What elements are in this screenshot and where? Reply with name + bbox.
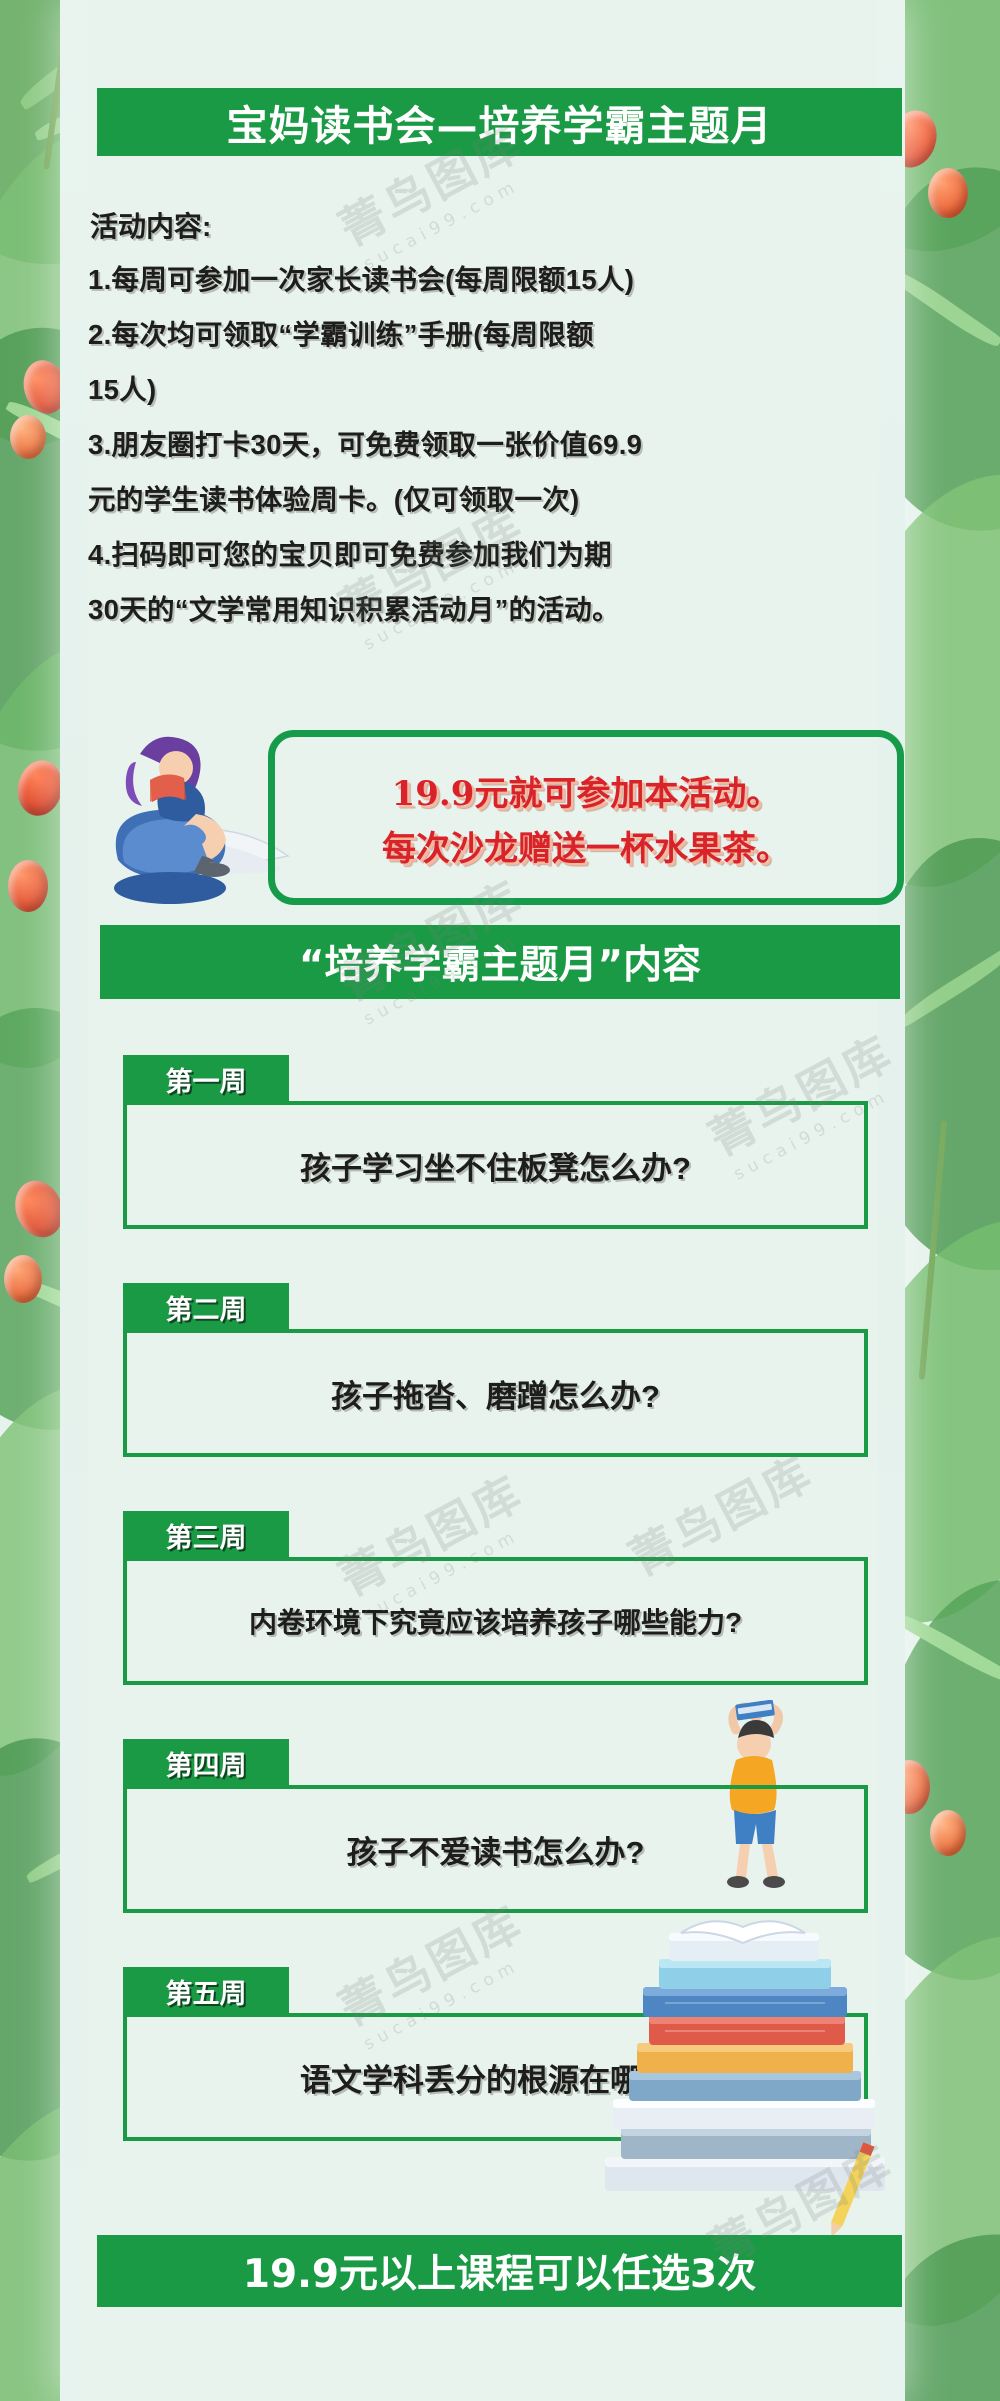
list-item: 15人) bbox=[88, 362, 918, 417]
week-tag-label: 第四周 bbox=[166, 1744, 247, 1783]
week-block: 第三周 内卷环境下究竟应该培养孩子哪些能力? bbox=[0, 1511, 1000, 1711]
list-item: 元的学生读书体验周卡。(仅可领取一次) bbox=[88, 472, 918, 527]
week-question-text: 内卷环境下究竟应该培养孩子哪些能力? bbox=[249, 1601, 742, 1641]
main-title-banner: 宝妈读书会—培养学霸主题月 bbox=[97, 88, 902, 156]
activity-heading: 活动内容: bbox=[90, 205, 211, 245]
list-item: 1.每周可参加一次家长读书会(每周限额15人) bbox=[88, 252, 918, 307]
week-tag-label: 第三周 bbox=[166, 1516, 247, 1555]
poster-root: 菁鸟图库 sucai99.com 菁鸟图库 sucai99.com 菁鸟图库 s… bbox=[0, 0, 1000, 2401]
list-item: 4.扫码即可您的宝贝即可免费参加我们为期 bbox=[88, 527, 918, 582]
girl-reading-illustration bbox=[88, 710, 298, 920]
week-question-box: 孩子学习坐不住板凳怎么办? bbox=[123, 1101, 868, 1229]
book-stack-illustration bbox=[585, 1895, 905, 2235]
poster-content: 宝妈读书会—培养学霸主题月 活动内容: 1.每周可参加一次家长读书会(每周限额1… bbox=[0, 0, 1000, 2401]
week-question-box: 孩子不爱读书怎么办? bbox=[123, 1785, 868, 1913]
week-tag: 第三周 bbox=[123, 1511, 289, 1559]
list-item: 3.朋友圈打卡30天，可免费领取一张价值69.9 bbox=[88, 417, 918, 472]
week-block: 第二周 孩子拖沓、磨蹭怎么办? bbox=[0, 1283, 1000, 1483]
week-tag-label: 第二周 bbox=[166, 1288, 247, 1327]
bottom-banner: 19.9元以上课程可以任选3次 bbox=[97, 2235, 902, 2307]
week-question-box: 孩子拖沓、磨蹭怎么办? bbox=[123, 1329, 868, 1457]
activity-list: 1.每周可参加一次家长读书会(每周限额15人) 2.每次均可领取“学霸训练”手册… bbox=[88, 252, 918, 637]
week-question-text: 孩子不爱读书怎么办? bbox=[347, 1827, 645, 1872]
list-item: 30天的“文学常用知识积累活动月”的活动。 bbox=[88, 582, 918, 637]
promo-box: 19.9元就可参加本活动。 每次沙龙赠送一杯水果茶。 bbox=[268, 730, 904, 905]
section-banner: “培养学霸主题月”内容 bbox=[100, 925, 900, 999]
section-title: “培养学霸主题月”内容 bbox=[299, 934, 701, 990]
week-block: 第一周 孩子学习坐不住板凳怎么办? bbox=[0, 1055, 1000, 1255]
page-title: 宝妈读书会—培养学霸主题月 bbox=[227, 92, 773, 152]
week-tag: 第四周 bbox=[123, 1739, 289, 1787]
week-tag-label: 第五周 bbox=[166, 1972, 247, 2011]
promo-line-1: 19.9元就可参加本活动。 bbox=[392, 766, 781, 815]
week-question-box: 内卷环境下究竟应该培养孩子哪些能力? bbox=[123, 1557, 868, 1685]
week-tag-label: 第一周 bbox=[166, 1060, 247, 1099]
week-tag: 第二周 bbox=[123, 1283, 289, 1331]
week-question-text: 孩子学习坐不住板凳怎么办? bbox=[300, 1143, 691, 1188]
bottom-banner-text: 19.9元以上课程可以任选3次 bbox=[243, 2243, 756, 2299]
week-tag: 第一周 bbox=[123, 1055, 289, 1103]
week-question-text: 孩子拖沓、磨蹭怎么办? bbox=[331, 1371, 660, 1416]
week-tag: 第五周 bbox=[123, 1967, 289, 2015]
list-item: 2.每次均可领取“学霸训练”手册(每周限额 bbox=[88, 307, 918, 362]
promo-line-2: 每次沙龙赠送一杯水果茶。 bbox=[382, 821, 790, 870]
